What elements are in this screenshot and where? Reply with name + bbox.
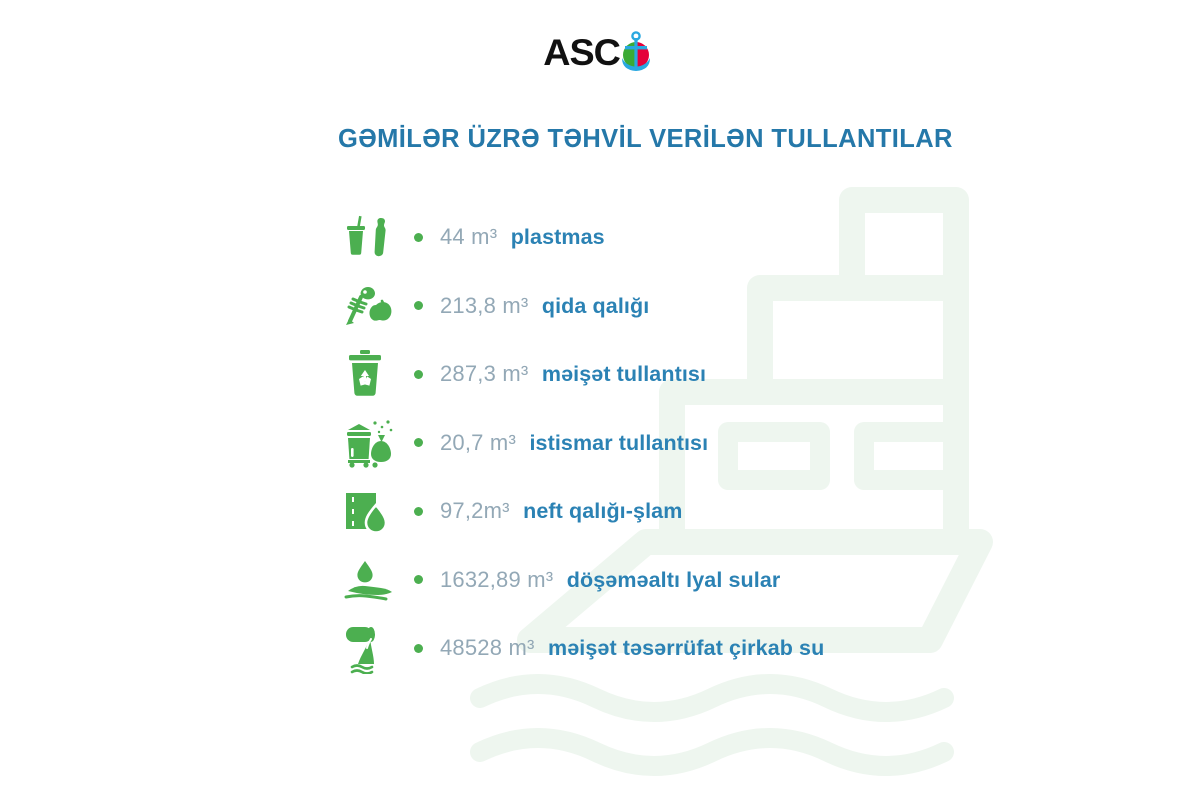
oil-barrel-droplet-icon <box>344 483 406 539</box>
waste-list: 44 m³ plastmas <box>344 203 1164 683</box>
list-item-text: 44 m³ plastmas <box>440 226 605 249</box>
list-item: 20,7 m³ istismar tullantısı <box>344 409 1164 478</box>
list-item-text: 1632,89 m³ döşəməaltı lyal sular <box>440 569 780 592</box>
fishbone-and-apple-core-icon <box>344 278 406 334</box>
list-item-label: neft qalığı-şlam <box>523 499 682 523</box>
list-item-text: 20,7 m³ istismar tullantısı <box>440 432 708 455</box>
list-item-label: məişət təsərrüfat çirkab su <box>548 636 824 660</box>
page-title: GƏMİLƏR ÜZRƏ TƏHVİL VERİLƏN TULLANTILAR <box>338 125 953 154</box>
recycle-bin-icon <box>344 346 406 402</box>
bullet-dot <box>414 233 423 242</box>
list-item-amount: 97,2m³ <box>440 498 510 523</box>
list-item: 48528 m³ məişət təsərrüfat çirkab su <box>344 614 1164 683</box>
bullet-dot <box>414 644 423 653</box>
list-item: 97,2m³ neft qalığı-şlam <box>344 477 1164 546</box>
list-item: 213,8 m³ qida qalığı <box>344 272 1164 341</box>
list-item-text: 287,3 m³ məişət tullantısı <box>440 363 706 386</box>
list-item-text: 97,2m³ neft qalığı-şlam <box>440 500 682 523</box>
oil-spill-droplet-icon <box>344 552 406 608</box>
list-item-label: döşəməaltı lyal sular <box>567 568 781 592</box>
bullet-dot <box>414 370 423 379</box>
list-item-amount: 1632,89 m³ <box>440 567 553 592</box>
list-item-label: plastmas <box>511 225 605 249</box>
list-item-amount: 20,7 m³ <box>440 430 516 455</box>
anchor-logo-mark <box>616 30 656 74</box>
list-item-label: istismar tullantısı <box>529 431 708 455</box>
list-item-amount: 44 m³ <box>440 224 497 249</box>
list-item-text: 48528 m³ məişət təsərrüfat çirkab su <box>440 637 824 660</box>
bullet-dot <box>414 575 423 584</box>
bullet-dot <box>414 438 423 447</box>
infographic-page: ASC GƏMİLƏR ÜZRƏ TƏHVİ <box>0 0 1200 800</box>
list-item-amount: 213,8 m³ <box>440 293 528 318</box>
trash-bin-with-bag-icon <box>344 415 406 471</box>
list-item-text: 213,8 m³ qida qalığı <box>440 295 649 318</box>
list-item-amount: 48528 m³ <box>440 635 535 660</box>
bullet-dot <box>414 301 423 310</box>
list-item: 1632,89 m³ döşəməaltı lyal sular <box>344 546 1164 615</box>
list-item: 287,3 m³ məişət tullantısı <box>344 340 1164 409</box>
list-item-amount: 287,3 m³ <box>440 361 528 386</box>
list-item-label: qida qalığı <box>542 294 649 318</box>
list-item-label: məişət tullantısı <box>542 362 706 386</box>
list-item: 44 m³ plastmas <box>344 203 1164 272</box>
bullet-dot <box>414 507 423 516</box>
brand-logo: ASC <box>0 30 1200 74</box>
cup-and-bottle-icon <box>344 209 406 265</box>
logo-wordmark: ASC <box>543 34 620 71</box>
wastewater-pipe-icon <box>344 620 406 676</box>
